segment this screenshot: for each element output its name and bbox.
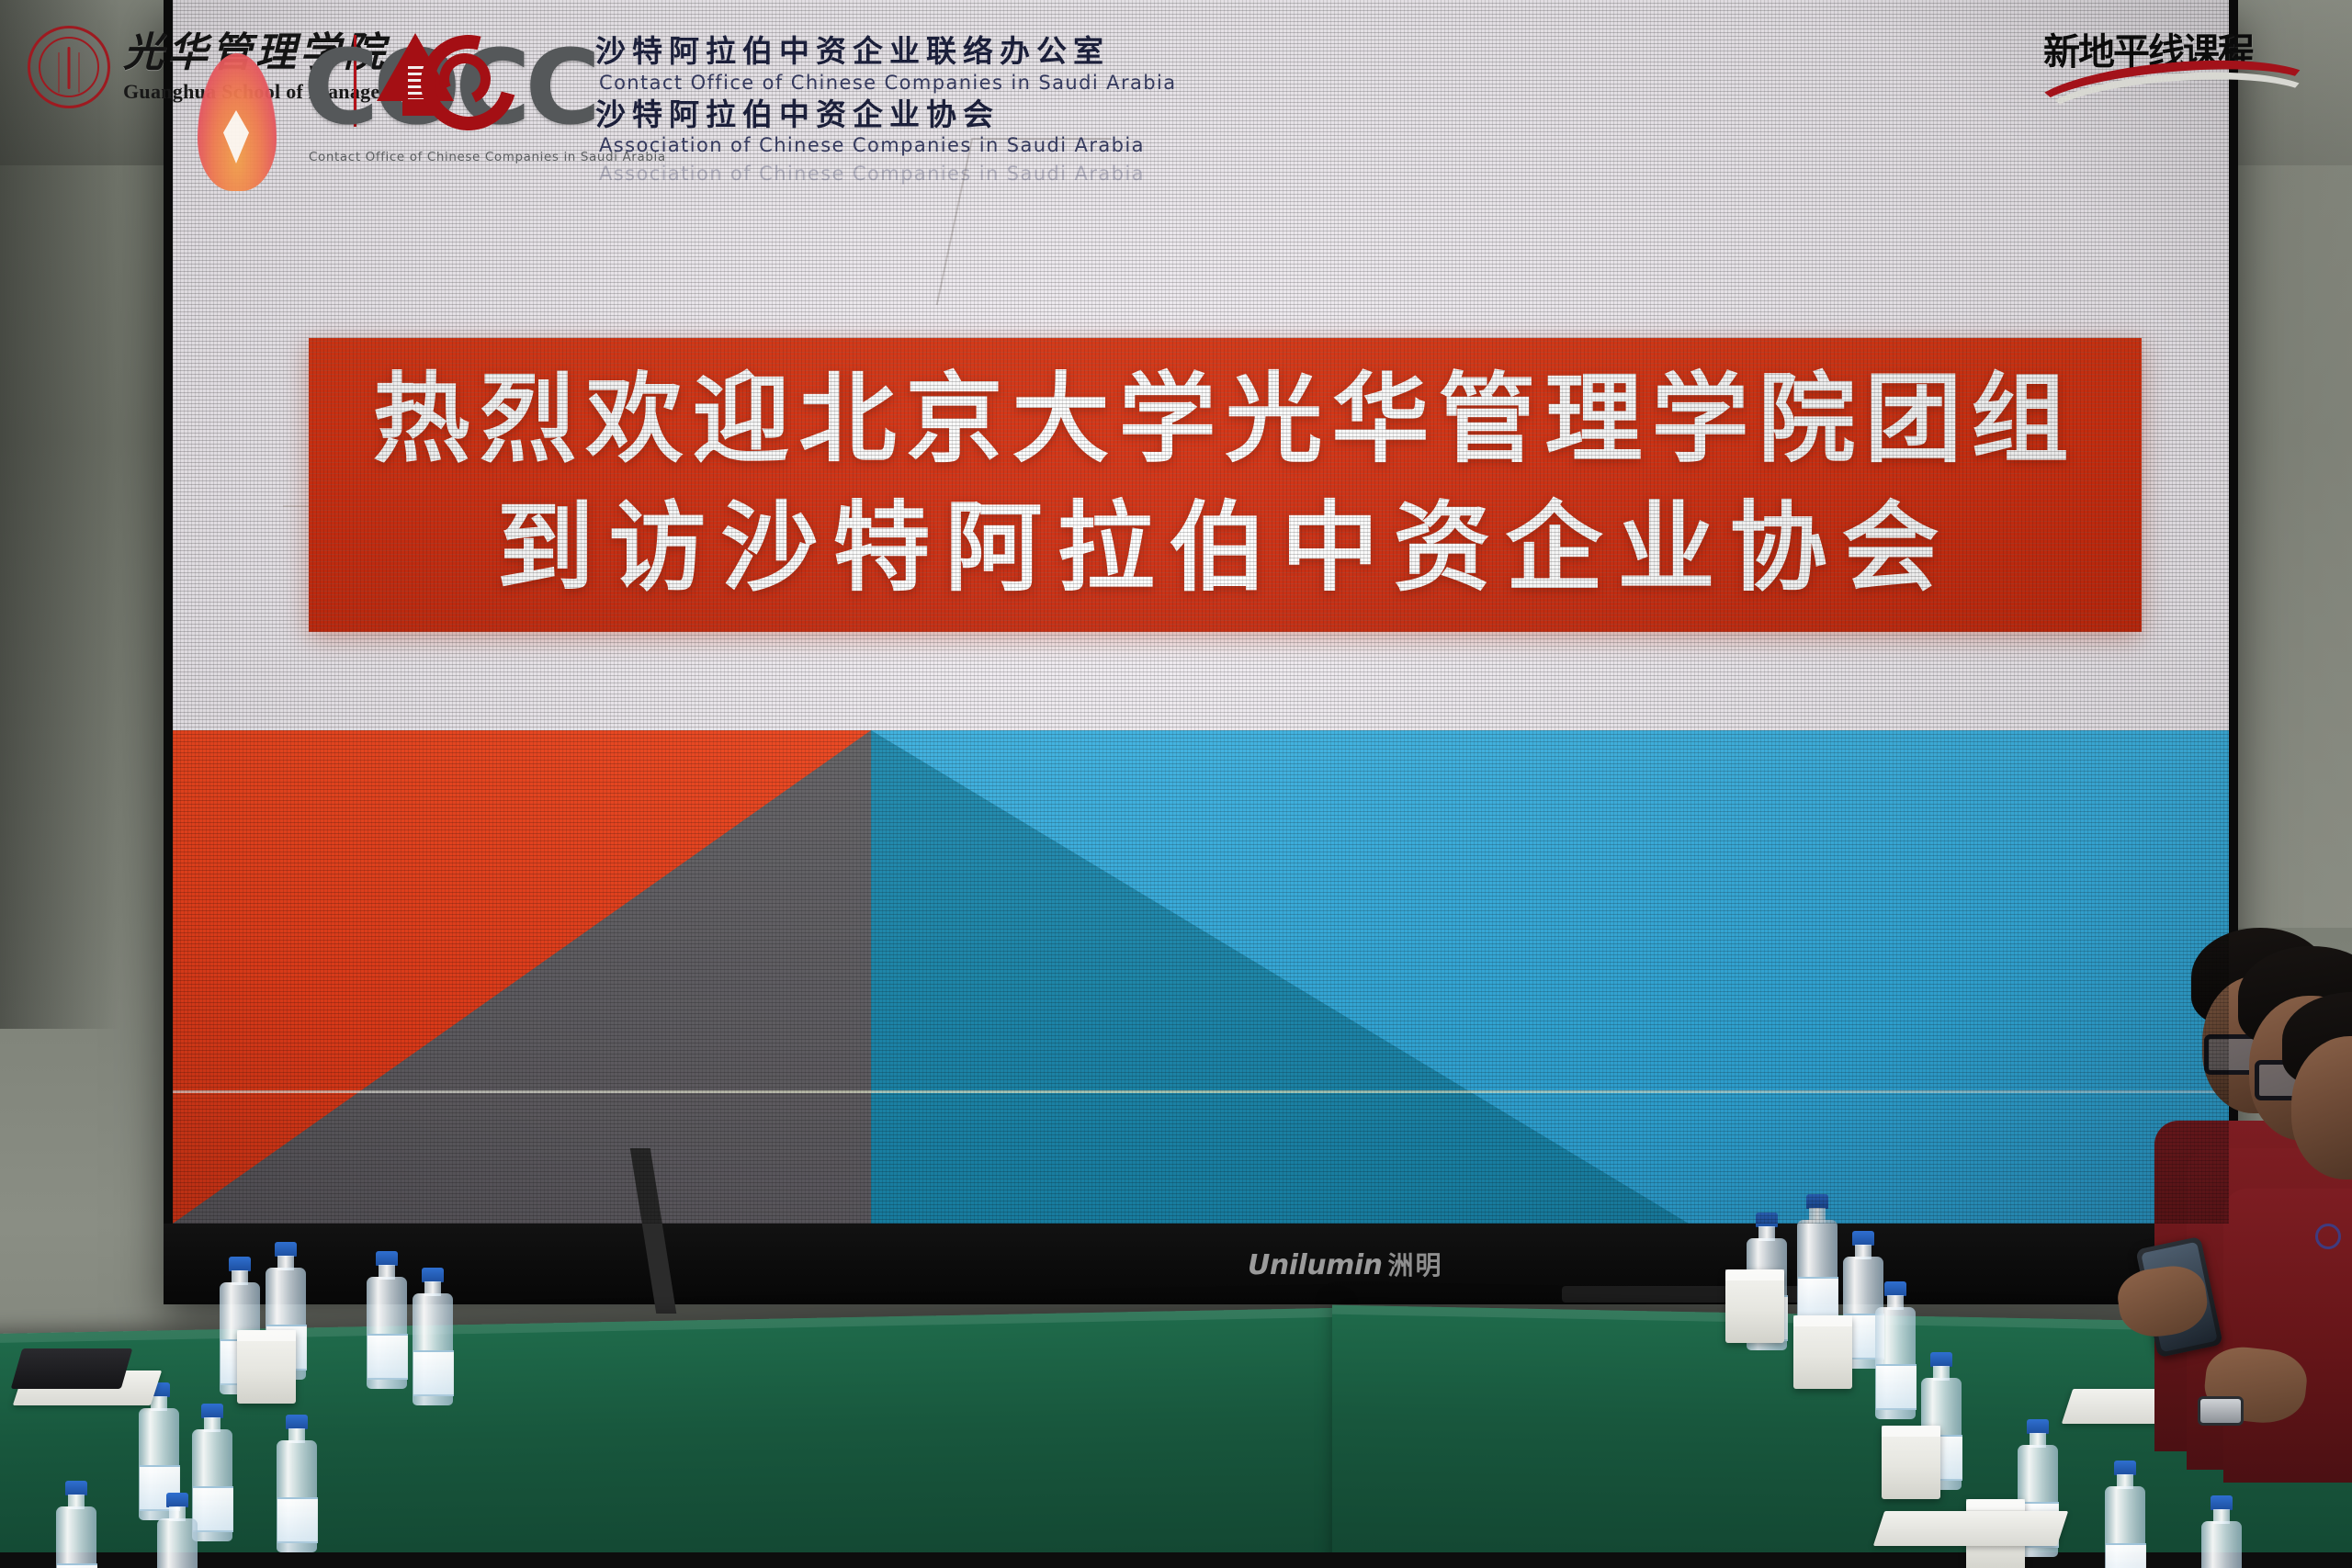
water-bottle — [366, 1251, 408, 1389]
bottle-label — [367, 1334, 408, 1380]
photo-scene: 热烈欢迎北京大学光华管理学院团组 到访沙特阿拉伯中资企业协会 Unilumin … — [0, 0, 2352, 1568]
bottle-label — [193, 1486, 233, 1532]
bottle-label — [277, 1497, 318, 1543]
org-en-line-2-reflection: Association of Chinese Companies in Saud… — [599, 163, 1790, 185]
water-bottle — [55, 1481, 97, 1568]
bottle-body — [2105, 1486, 2145, 1568]
cup-box — [1882, 1426, 1940, 1499]
bottle-body — [413, 1293, 453, 1405]
bottle-body — [56, 1506, 96, 1568]
water-bottle — [276, 1415, 318, 1552]
bottle-cap — [2114, 1461, 2136, 1475]
water-bottle — [1796, 1194, 1838, 1332]
water-bottle — [2200, 1495, 2243, 1568]
unilumin-brand: Unilumin 洲明 — [1248, 1246, 1443, 1282]
bottle-label — [1876, 1364, 1917, 1410]
bottle-cap — [1852, 1231, 1874, 1246]
org-en-line-2: Association of Chinese Companies in Saud… — [599, 134, 1790, 156]
bottle-body — [1875, 1307, 1916, 1419]
bottle-cap — [1756, 1213, 1778, 1227]
bottle-cap — [286, 1415, 308, 1429]
notebook — [11, 1348, 133, 1389]
bottle-body — [367, 1277, 407, 1389]
org-cn-line-2: 沙特阿拉伯中资企业协会 — [595, 100, 1790, 132]
organization-name-stack: 沙特阿拉伯中资企业联络办公室 Contact Office of Chinese… — [595, 37, 1790, 191]
bottle-cap — [2027, 1419, 2049, 1434]
cup-box — [1725, 1269, 1784, 1343]
bottle-cap — [65, 1481, 87, 1495]
power-indicator-led — [2315, 1224, 2341, 1249]
header-logo-band: 光华管理学院 Guanghua School of Management COC… — [0, 0, 2352, 197]
water-bottle — [1874, 1281, 1917, 1419]
banner-line-1: 热烈欢迎北京大学光华管理学院团组 — [373, 356, 2078, 485]
bottle-label — [2106, 1543, 2146, 1568]
seal-ring-text — [29, 28, 108, 107]
org-cn-line-1: 沙特阿拉伯中资企业联络办公室 — [595, 37, 1790, 69]
bottle-cap — [275, 1242, 297, 1257]
screen-bezel-bottom — [164, 1224, 2238, 1304]
unilumin-brand-cn: 洲明 — [1388, 1246, 1443, 1282]
document-sheet — [1873, 1511, 2068, 1546]
cup-box — [1793, 1315, 1852, 1389]
welcome-banner: 热烈欢迎北京大学光华管理学院团组 到访沙特阿拉伯中资企业协会 — [309, 338, 2142, 632]
bottle-cap — [1930, 1352, 1952, 1367]
bottle-cap — [201, 1404, 223, 1418]
banner-line-2: 到访沙特阿拉伯中资企业协会 — [497, 485, 1954, 614]
bottle-body — [2201, 1521, 2242, 1568]
slide-bottom-graphic — [173, 730, 2229, 1224]
bottle-body — [277, 1440, 317, 1552]
peking-university-seal-icon — [28, 26, 110, 108]
anniversary-40-icon — [371, 26, 491, 122]
org-en-line-1: Contact Office of Chinese Companies in S… — [599, 72, 1790, 94]
new-horizon-program-watermark: 新地平线课程 — [2032, 22, 2280, 107]
bottle-label — [57, 1563, 97, 1568]
bottle-cap — [422, 1268, 444, 1282]
water-bottle — [412, 1268, 454, 1405]
bottle-cap — [376, 1251, 398, 1266]
cup-box — [237, 1330, 296, 1404]
bottle-label — [413, 1350, 454, 1396]
new-horizon-swoosh-silver — [2036, 63, 2322, 154]
unilumin-brand-en: Unilumin — [1248, 1249, 1383, 1281]
graphic-hairline — [173, 1090, 2229, 1093]
bottle-cap — [166, 1493, 188, 1507]
bottle-cap — [1884, 1281, 1906, 1296]
water-bottle — [156, 1493, 198, 1568]
water-bottle — [2104, 1461, 2146, 1568]
bottle-cap — [1806, 1194, 1828, 1209]
bottle-cap — [229, 1257, 251, 1271]
bottle-cap — [2211, 1495, 2233, 1510]
wristwatch — [2198, 1396, 2244, 1426]
bottle-body — [157, 1518, 198, 1568]
